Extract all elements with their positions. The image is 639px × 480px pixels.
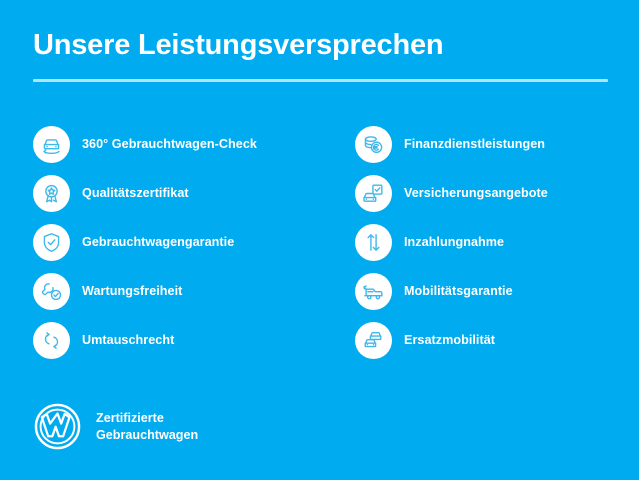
footer-line-2: Gebrauchtwagen (96, 427, 198, 444)
footer-brand: Zertifizierte Gebrauchtwagen (33, 402, 198, 451)
exchange-arrows-icon (33, 322, 70, 359)
benefits-grid: 360° Gebrauchtwagen-Check Qualitätszerti… (0, 120, 639, 365)
volkswagen-logo (33, 402, 82, 451)
benefit-item[interactable]: Mobilitätsgarantie (355, 267, 639, 315)
benefit-label: Finanzdienstleistungen (404, 137, 545, 151)
tow-truck-icon (355, 273, 392, 310)
benefits-column-left: 360° Gebrauchtwagen-Check Qualitätszerti… (0, 120, 330, 365)
arrows-up-down-icon (355, 224, 392, 261)
benefit-item[interactable]: Finanzdienstleistungen (355, 120, 639, 168)
coins-euro-icon (355, 126, 392, 163)
shield-check-icon (33, 224, 70, 261)
title-divider (33, 79, 608, 82)
car-document-check-icon (355, 175, 392, 212)
benefits-column-right: Finanzdienstleistungen Versicherungsange… (330, 120, 639, 365)
leistungsversprechen-poster: Unsere Leistungsversprechen 360° Gebrauc (0, 0, 639, 480)
benefit-label: Inzahlungnahme (404, 235, 504, 249)
two-cars-icon (355, 322, 392, 359)
award-rosette-icon (33, 175, 70, 212)
benefit-label: 360° Gebrauchtwagen-Check (82, 137, 257, 151)
benefit-item[interactable]: 360° Gebrauchtwagen-Check (33, 120, 330, 168)
benefit-label: Wartungsfreiheit (82, 284, 182, 298)
benefit-label: Gebrauchtwagengarantie (82, 235, 234, 249)
benefit-label: Ersatzmobilität (404, 333, 495, 347)
page-title: Unsere Leistungsversprechen (33, 28, 608, 62)
benefit-item[interactable]: Umtauschrecht (33, 316, 330, 364)
benefit-item[interactable]: Ersatzmobilität (355, 316, 639, 364)
wrench-check-icon (33, 273, 70, 310)
benefit-item[interactable]: Qualitätszertifikat (33, 169, 330, 217)
footer-text: Zertifizierte Gebrauchtwagen (96, 410, 198, 443)
car-360-check-icon (33, 126, 70, 163)
benefit-item[interactable]: Gebrauchtwagengarantie (33, 218, 330, 266)
benefit-item[interactable]: Wartungsfreiheit (33, 267, 330, 315)
footer-line-1: Zertifizierte (96, 410, 198, 427)
benefit-label: Umtauschrecht (82, 333, 174, 347)
benefit-label: Mobilitätsgarantie (404, 284, 513, 298)
header: Unsere Leistungsversprechen (33, 28, 608, 82)
benefit-item[interactable]: Inzahlungnahme (355, 218, 639, 266)
benefit-item[interactable]: Versicherungsangebote (355, 169, 639, 217)
benefit-label: Versicherungsangebote (404, 186, 548, 200)
benefit-label: Qualitätszertifikat (82, 186, 189, 200)
